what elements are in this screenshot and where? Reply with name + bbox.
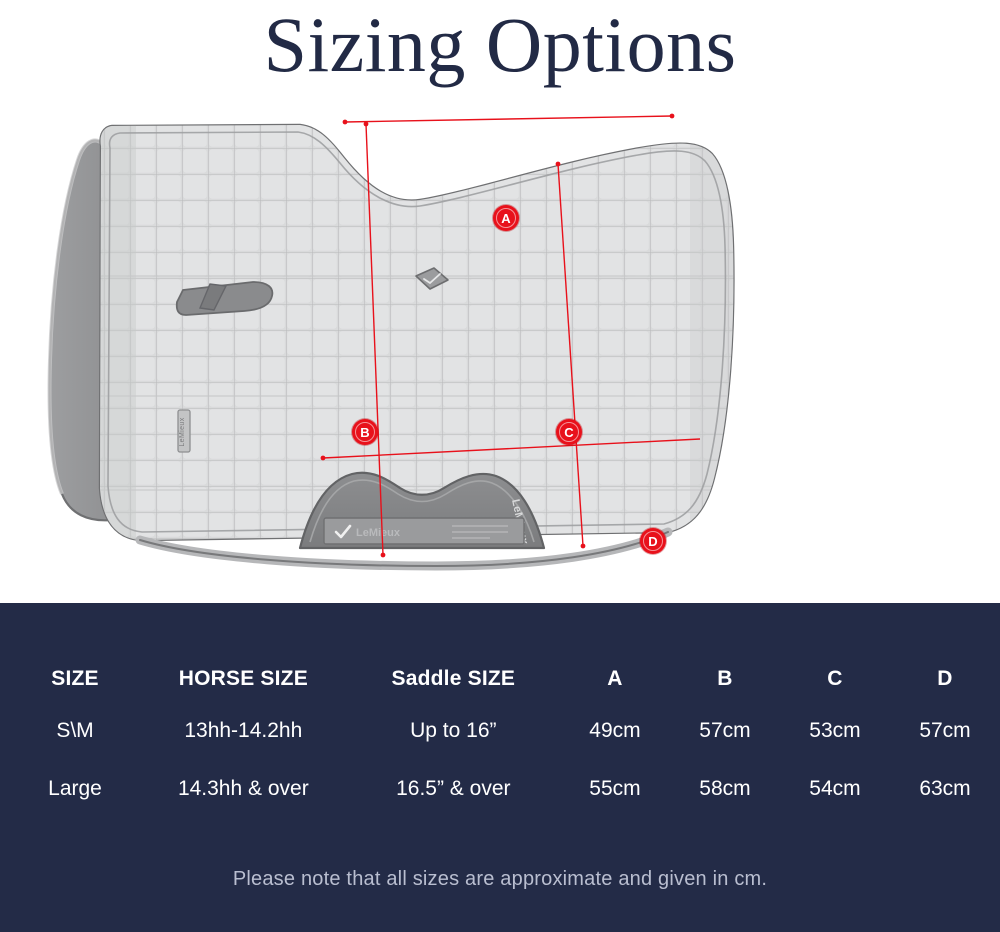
sizing-table: SIZE HORSE SIZE Saddle SIZE A B C D S\M … (0, 603, 1000, 815)
marker-label-c: C (564, 426, 573, 439)
measurement-marker-b: B (352, 419, 378, 445)
column-header-size: SIZE (0, 603, 140, 695)
cell-saddle-size: Up to 16” (347, 695, 560, 757)
saddle-pad-diagram: LeMieux LeMieux LeMieux (0, 96, 1000, 603)
cell-horse-size: 13hh-14.2hh (140, 695, 347, 757)
measurement-marker-a: A (493, 205, 519, 231)
measurement-marker-c: C (556, 419, 582, 445)
svg-text:LeMieux: LeMieux (179, 417, 186, 446)
cell-horse-size: 14.3hh & over (140, 757, 347, 815)
cell-a: 55cm (560, 757, 670, 815)
cell-c: 53cm (780, 695, 890, 757)
page-title: Sizing Options (264, 6, 737, 84)
sizing-table-header: SIZE HORSE SIZE Saddle SIZE A B C D (0, 603, 1000, 695)
sizing-table-body: S\M 13hh-14.2hh Up to 16” 49cm 57cm 53cm… (0, 695, 1000, 815)
marker-label-d: D (648, 535, 657, 548)
cell-size: S\M (0, 695, 140, 757)
cell-size: Large (0, 757, 140, 815)
cell-d: 57cm (890, 695, 1000, 757)
side-label-tab: LeMieux (178, 410, 190, 452)
cell-d: 63cm (890, 757, 1000, 815)
column-header-a: A (560, 603, 670, 695)
column-header-b: B (670, 603, 780, 695)
measure-line-a (345, 116, 672, 122)
cell-saddle-size: 16.5” & over (347, 757, 560, 815)
saddle-pad-illustration: LeMieux LeMieux LeMieux (0, 96, 1000, 603)
marker-label-b: B (360, 426, 369, 439)
column-header-horse-size: HORSE SIZE (140, 603, 347, 695)
page-header: Sizing Options (0, 0, 1000, 96)
sizing-options-page: Sizing Options (0, 0, 1000, 932)
column-header-c: C (780, 603, 890, 695)
pad-body (96, 120, 746, 550)
cell-b: 58cm (670, 757, 780, 815)
column-header-saddle-size: Saddle SIZE (347, 603, 560, 695)
table-header-row: SIZE HORSE SIZE Saddle SIZE A B C D (0, 603, 1000, 695)
cell-b: 57cm (670, 695, 780, 757)
sizing-note: Please note that all sizes are approxima… (0, 868, 1000, 891)
cell-a: 49cm (560, 695, 670, 757)
svg-text:LeMieux: LeMieux (356, 527, 401, 539)
table-row: S\M 13hh-14.2hh Up to 16” 49cm 57cm 53cm… (0, 695, 1000, 757)
marker-label-a: A (501, 212, 510, 225)
column-header-d: D (890, 603, 1000, 695)
table-row: Large 14.3hh & over 16.5” & over 55cm 58… (0, 757, 1000, 815)
cell-c: 54cm (780, 757, 890, 815)
measurement-marker-d: D (640, 528, 666, 554)
sizing-specs-panel: SIZE HORSE SIZE Saddle SIZE A B C D S\M … (0, 603, 1000, 932)
